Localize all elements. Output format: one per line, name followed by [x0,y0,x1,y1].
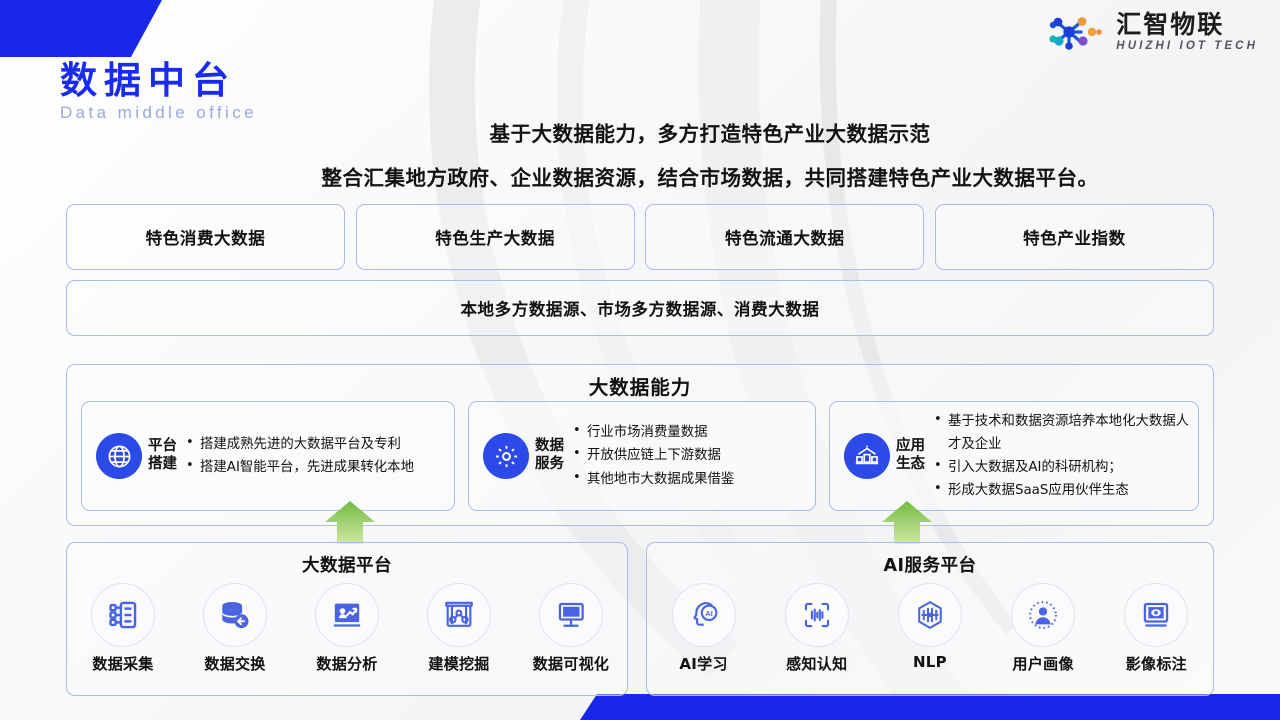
platform-item-label: 数据交换 [204,653,265,674]
svg-text:AI: AI [705,609,712,618]
top-box-row: 特色消费大数据 特色生产大数据 特色流通大数据 特色产业指数 [66,204,1214,268]
list-item: 引入大数据及AI的科研机构； [931,456,1192,479]
platform-item-modeling[interactable]: 建模挖掘 [407,583,511,674]
platform-items-ai: AI AI学习 感知认知 [647,583,1213,674]
capability-card-platform[interactable]: 平台 搭建 搭建成熟先进的大数据平台及专利 搭建AI智能平台，先进成果转化本地 [81,401,455,511]
capability-name-app-ecosystem: 应用 生态 [896,438,925,473]
headline-line-1: 基于大数据能力，多方打造特色产业大数据示范 [180,117,1240,147]
data-source-bar[interactable]: 本地多方数据源、市场多方数据源、消费大数据 [66,280,1214,336]
headline-line-2: 整合汇集地方政府、企业数据资源，结合市场数据，共同搭建特色产业大数据平台。 [180,161,1240,191]
platform-item-ai-learning[interactable]: AI AI学习 [652,583,756,674]
list-item: 行业市场消费量数据 [570,421,809,444]
molecule-network-icon [1045,12,1107,52]
platform-item-label: AI学习 [679,653,727,674]
platform-items-bigdata: 数据采集 数据交换 [67,583,627,674]
list-item: 开放供应链上下游数据 [570,444,809,467]
platform-item-data-collect[interactable]: 数据采集 [71,583,175,674]
platform-item-data-exchange[interactable]: 数据交换 [183,583,287,674]
capability-name-platform: 平台 搭建 [148,438,177,473]
data-collect-icon [91,583,155,647]
capability-card-data-service[interactable]: 数据 服务 行业市场消费量数据 开放供应链上下游数据 其他地市大数据成果借鉴 [468,401,816,511]
gear-icon [483,433,529,479]
platform-item-nlp[interactable]: NLP [878,583,982,674]
globe-icon [96,433,142,479]
top-box-0[interactable]: 特色消费大数据 [66,204,345,270]
brand-logo: 汇智物联 HUIZHI IOT TECH [1045,12,1258,53]
monitor-visualization-icon [539,583,603,647]
top-box-1[interactable]: 特色生产大数据 [356,204,635,270]
capability-row: 平台 搭建 搭建成熟先进的大数据平台及专利 搭建AI智能平台，先进成果转化本地 … [81,401,1199,511]
top-box-2[interactable]: 特色流通大数据 [645,204,924,270]
up-arrow-left-icon [322,500,378,544]
capability-card-app-ecosystem[interactable]: 应用 生态 基于技术和数据资源培养本地化大数据人才及企业 引入大数据及AI的科研… [829,401,1199,511]
image-annotation-icon [1124,583,1188,647]
nlp-network-icon [898,583,962,647]
scan-perception-icon [785,583,849,647]
platform-panel-ai: AI服务平台 AI AI学习 [646,542,1214,696]
platform-item-label: 影像标注 [1126,653,1187,674]
platform-item-label: 数据采集 [92,653,153,674]
platform-item-perception[interactable]: 感知认知 [765,583,869,674]
platform-item-label: NLP [913,653,947,671]
platform-title-ai: AI服务平台 [647,552,1213,577]
platform-item-label: 建模挖掘 [428,653,489,674]
ai-head-icon: AI [672,583,736,647]
capability-name-data-service: 数据 服务 [535,438,564,473]
chart-analysis-icon [315,583,379,647]
top-box-3[interactable]: 特色产业指数 [935,204,1214,270]
platform-item-label: 用户画像 [1013,653,1074,674]
brand-name-cn: 汇智物联 [1116,12,1258,37]
platform-panel-bigdata: 大数据平台 数据采集 [66,542,628,696]
platform-item-image-annotation[interactable]: 影像标注 [1104,583,1208,674]
list-item: 搭建AI智能平台，先进成果转化本地 [183,456,448,479]
platform-item-label: 数据分析 [316,653,377,674]
platform-item-user-profile[interactable]: 用户画像 [991,583,1095,674]
user-profile-icon [1011,583,1075,647]
page-title: 数据中台 Data middle office [60,62,257,123]
list-item: 基于技术和数据资源培养本地化大数据人才及企业 [931,410,1192,456]
platform-item-label: 感知认知 [786,653,847,674]
model-mining-icon [427,583,491,647]
slide-canvas: 汇智物联 HUIZHI IOT TECH 数据中台 Data middle of… [0,0,1280,720]
platform-item-visualization[interactable]: 数据可视化 [519,583,623,674]
list-item: 其他地市大数据成果借鉴 [570,468,809,491]
bank-building-icon [844,433,890,479]
list-item: 搭建成熟先进的大数据平台及专利 [183,433,448,456]
headline: 基于大数据能力，多方打造特色产业大数据示范 整合汇集地方政府、企业数据资源，结合… [180,117,1240,191]
platform-title-bigdata: 大数据平台 [67,552,627,577]
platform-item-label: 数据可视化 [533,653,610,674]
list-item: 形成大数据SaaS应用伙伴生态 [931,479,1192,502]
capability-panel: 大数据能力 平台 搭建 搭建成熟先进的大数据平台及专利 搭建AI智能平台，先进成… [66,364,1214,526]
capability-bullets-data-service: 行业市场消费量数据 开放供应链上下游数据 其他地市大数据成果借鉴 [570,421,809,490]
capability-bullets-app-ecosystem: 基于技术和数据资源培养本地化大数据人才及企业 引入大数据及AI的科研机构； 形成… [931,410,1192,502]
up-arrow-right-icon [879,500,935,544]
database-exchange-icon [203,583,267,647]
platform-item-data-analysis[interactable]: 数据分析 [295,583,399,674]
page-title-cn: 数据中台 [60,62,257,101]
brand-name-en: HUIZHI IOT TECH [1116,41,1258,53]
capability-bullets-platform: 搭建成熟先进的大数据平台及专利 搭建AI智能平台，先进成果转化本地 [183,433,448,479]
footer-accent-bar [0,694,1280,720]
capability-title: 大数据能力 [67,371,1213,400]
corner-accent-shape [0,0,162,57]
